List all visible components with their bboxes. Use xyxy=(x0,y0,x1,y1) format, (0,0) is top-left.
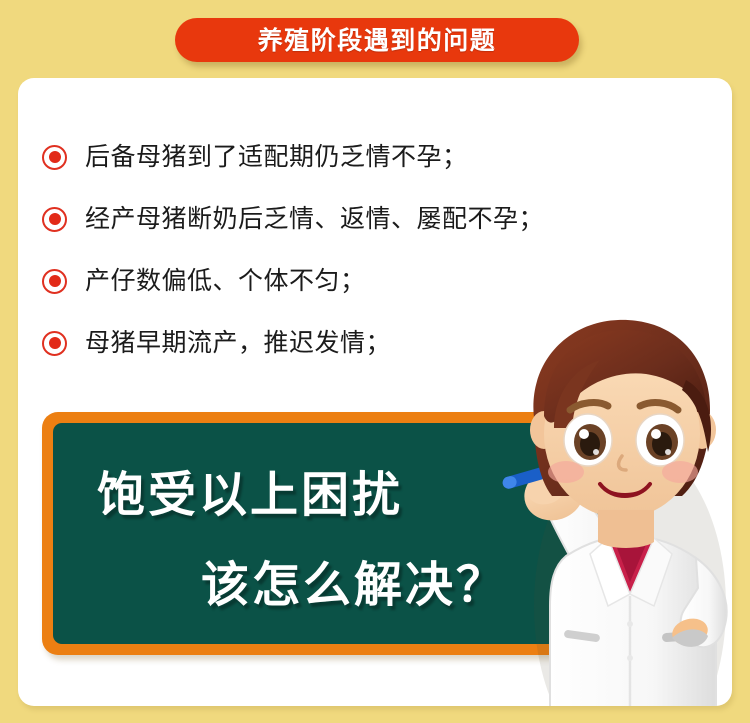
issue-text: 后备母猪到了适配期仍乏情不孕； xyxy=(85,143,468,171)
header-title: 养殖阶段遇到的问题 xyxy=(258,28,497,53)
target-dot-icon xyxy=(42,207,67,232)
list-item: 产仔数偏低、个体不匀； xyxy=(42,250,602,312)
issue-text: 母猪早期流产，推迟发情； xyxy=(85,329,391,357)
target-dot-icon xyxy=(42,331,67,356)
chalkboard-line-1: 饱受以上困扰 xyxy=(97,471,403,519)
target-dot-icon xyxy=(42,145,67,170)
chalkboard-surface: 饱受以上困扰 该怎么解决？ xyxy=(53,423,611,644)
content-card: 后备母猪到了适配期仍乏情不孕； 经产母猪断奶后乏情、返情、屡配不孕； 产仔数偏低… xyxy=(18,78,732,706)
issue-list: 后备母猪到了适配期仍乏情不孕； 经产母猪断奶后乏情、返情、屡配不孕； 产仔数偏低… xyxy=(42,126,602,374)
poster-root: 养殖阶段遇到的问题 后备母猪到了适配期仍乏情不孕； 经产母猪断奶后乏情、返情、屡… xyxy=(0,0,750,723)
header-banner: 养殖阶段遇到的问题 xyxy=(175,18,579,62)
issue-text: 经产母猪断奶后乏情、返情、屡配不孕； xyxy=(85,205,544,233)
chalkboard: 饱受以上困扰 该怎么解决？ xyxy=(42,412,622,655)
target-dot-icon xyxy=(42,269,67,294)
list-item: 经产母猪断奶后乏情、返情、屡配不孕； xyxy=(42,188,602,250)
issue-text: 产仔数偏低、个体不匀； xyxy=(85,267,366,295)
list-item: 母猪早期流产，推迟发情； xyxy=(42,312,602,374)
chalkboard-line-2: 该怎么解决？ xyxy=(201,561,507,609)
list-item: 后备母猪到了适配期仍乏情不孕； xyxy=(42,126,602,188)
